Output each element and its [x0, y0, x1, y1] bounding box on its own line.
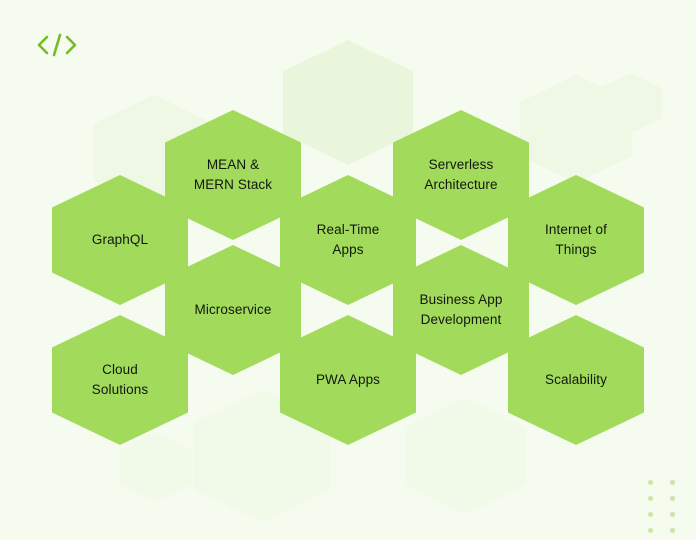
hexagon-label-scalability: Scalability: [535, 370, 617, 390]
dot-icon: [648, 528, 653, 533]
dot-cell: [670, 512, 692, 528]
dot-cell: [670, 496, 692, 512]
dot-icon: [670, 480, 675, 485]
dot-icon: [670, 496, 675, 501]
hexagon-label-cloud-solutions: Cloud Solutions: [82, 360, 158, 399]
decorative-hexagon-decor-bottom-right: [405, 398, 525, 514]
dot-cell: [648, 480, 670, 496]
hexagon-label-serverless: Serverless Architecture: [414, 155, 507, 194]
code-brackets-logo: [34, 28, 80, 62]
hexagon-label-internet-of-things: Internet of Things: [535, 220, 617, 259]
dot-icon: [648, 512, 653, 517]
hexagon-label-microservice: Microservice: [185, 300, 282, 320]
decorative-dot-grid: [648, 480, 692, 540]
hexagon-label-real-time-apps: Real-Time Apps: [307, 220, 390, 259]
dot-cell: [670, 528, 692, 540]
hexagon-label-business-app-development: Business App Development: [409, 290, 512, 329]
hexagon-label-mean-mern-stack: MEAN & MERN Stack: [184, 155, 282, 194]
dot-cell: [648, 528, 670, 540]
dot-icon: [648, 480, 653, 485]
dot-icon: [670, 528, 675, 533]
hexagon-label-graphql: GraphQL: [82, 230, 158, 250]
decorative-hexagon-decor-bottom-left-small: [120, 432, 192, 502]
dot-cell: [670, 480, 692, 496]
dot-cell: [648, 512, 670, 528]
poster-canvas: GraphQLMEAN & MERN StackReal-Time AppsSe…: [0, 0, 696, 540]
dot-icon: [670, 512, 675, 517]
dot-icon: [648, 496, 653, 501]
hexagon-label-pwa-apps: PWA Apps: [306, 370, 390, 390]
dot-cell: [648, 496, 670, 512]
